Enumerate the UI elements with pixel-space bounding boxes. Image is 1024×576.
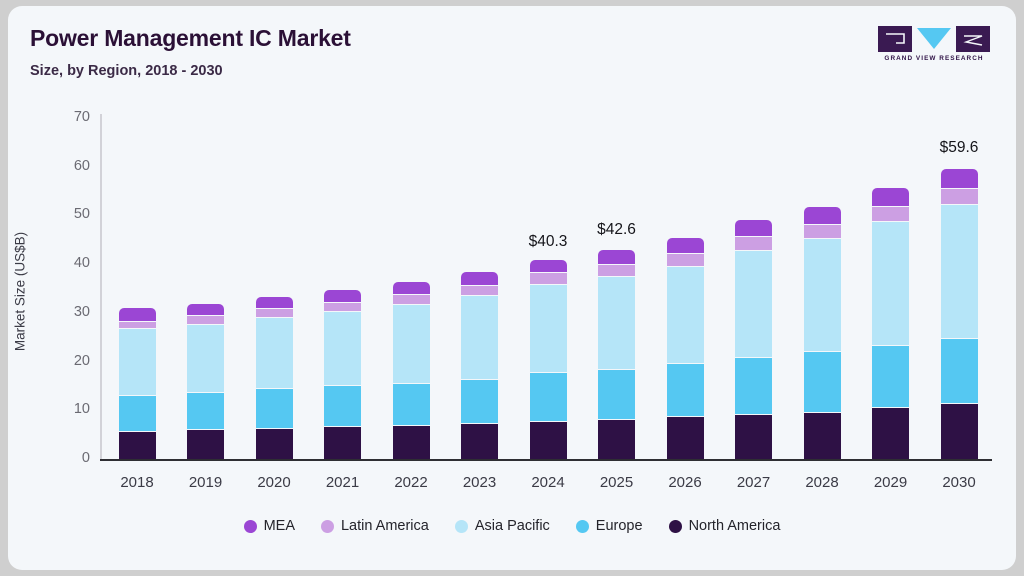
chart-legend: MEALatin AmericaAsia PacificEuropeNorth … xyxy=(8,518,1016,534)
bar-segment[interactable] xyxy=(530,372,567,421)
bar-segment[interactable] xyxy=(735,250,772,357)
chart-bar[interactable] xyxy=(324,118,361,459)
bar-segment[interactable] xyxy=(941,169,978,188)
chart-bar[interactable] xyxy=(598,118,635,459)
legend-item-north-america[interactable]: North America xyxy=(669,518,781,534)
chart-bar[interactable] xyxy=(530,118,567,459)
bar-segment[interactable] xyxy=(187,324,224,392)
y-axis-title: Market Size (US$B) xyxy=(13,112,28,472)
x-axis-line xyxy=(100,459,992,461)
legend-color-swatch xyxy=(455,520,468,533)
legend-color-swatch xyxy=(244,520,257,533)
bar-segment[interactable] xyxy=(187,392,224,430)
bar-segment[interactable] xyxy=(119,328,156,394)
bar-segment[interactable] xyxy=(256,428,293,459)
bar-segment[interactable] xyxy=(324,385,361,426)
bar-segment[interactable] xyxy=(941,188,978,204)
bar-segment[interactable] xyxy=(119,308,156,320)
chart-bar[interactable] xyxy=(872,118,909,459)
chart-card: Power Management IC Market Size, by Regi… xyxy=(8,6,1016,570)
bar-segment[interactable] xyxy=(598,419,635,459)
bar-segment[interactable] xyxy=(530,260,567,273)
bar-segment[interactable] xyxy=(804,207,841,224)
y-axis-tick: 30 xyxy=(46,304,90,320)
bar-segment[interactable] xyxy=(804,412,841,459)
bar-segment[interactable] xyxy=(256,308,293,317)
legend-color-swatch xyxy=(576,520,589,533)
bar-segment[interactable] xyxy=(393,383,430,425)
bar-segment[interactable] xyxy=(461,285,498,295)
chart-bar[interactable] xyxy=(804,118,841,459)
legend-label: North America xyxy=(689,518,781,534)
bar-segment[interactable] xyxy=(187,429,224,459)
y-axis-tick: 70 xyxy=(46,109,90,125)
bar-segment[interactable] xyxy=(119,395,156,431)
bar-segment[interactable] xyxy=(256,317,293,388)
y-axis-tick: 10 xyxy=(46,401,90,417)
bar-segment[interactable] xyxy=(941,204,978,337)
bar-segment[interactable] xyxy=(735,414,772,459)
bar-segment[interactable] xyxy=(461,295,498,378)
bar-segment[interactable] xyxy=(393,282,430,294)
chart-bar[interactable] xyxy=(735,118,772,459)
bar-segment[interactable] xyxy=(598,264,635,277)
bar-segment[interactable] xyxy=(461,379,498,424)
bar-segment[interactable] xyxy=(530,421,567,459)
y-axis-tick: 40 xyxy=(46,255,90,271)
chart-plot-area: Market Size (US$B) 010203040506070201820… xyxy=(8,6,1016,570)
bar-segment[interactable] xyxy=(667,266,704,363)
bar-segment[interactable] xyxy=(804,238,841,351)
bar-segment[interactable] xyxy=(461,423,498,459)
bar-segment[interactable] xyxy=(598,369,635,419)
legend-item-europe[interactable]: Europe xyxy=(576,518,643,534)
legend-item-mea[interactable]: MEA xyxy=(244,518,295,534)
chart-bar[interactable] xyxy=(256,118,293,459)
chart-bar[interactable] xyxy=(187,118,224,459)
legend-label: MEA xyxy=(264,518,295,534)
chart-bar[interactable] xyxy=(461,118,498,459)
bar-segment[interactable] xyxy=(872,206,909,221)
bar-segment[interactable] xyxy=(872,221,909,344)
bar-segment[interactable] xyxy=(667,363,704,416)
bar-segment[interactable] xyxy=(119,321,156,329)
bar-segment[interactable] xyxy=(324,290,361,302)
bar-segment[interactable] xyxy=(256,297,293,309)
bar-segment[interactable] xyxy=(187,315,224,323)
bar-segment[interactable] xyxy=(667,253,704,266)
bar-segment[interactable] xyxy=(393,294,430,304)
bar-segment[interactable] xyxy=(530,272,567,284)
bar-segment[interactable] xyxy=(119,431,156,459)
chart-bar[interactable] xyxy=(941,118,978,459)
legend-item-asia-pacific[interactable]: Asia Pacific xyxy=(455,518,550,534)
bar-segment[interactable] xyxy=(941,403,978,459)
bar-segment[interactable] xyxy=(324,311,361,386)
bar-value-label: $59.6 xyxy=(909,139,1009,157)
x-axis-tick: 2030 xyxy=(919,474,999,491)
bar-segment[interactable] xyxy=(256,388,293,428)
chart-bar[interactable] xyxy=(119,118,156,459)
bar-segment[interactable] xyxy=(941,338,978,403)
y-axis-line xyxy=(100,114,102,461)
y-axis-tick: 60 xyxy=(46,158,90,174)
bar-segment[interactable] xyxy=(393,425,430,459)
y-axis-tick: 20 xyxy=(46,353,90,369)
y-axis-tick: 50 xyxy=(46,206,90,222)
bar-segment[interactable] xyxy=(735,236,772,250)
bar-segment[interactable] xyxy=(598,250,635,264)
legend-label: Asia Pacific xyxy=(475,518,550,534)
bar-segment[interactable] xyxy=(804,351,841,411)
bar-segment[interactable] xyxy=(667,238,704,253)
bar-segment[interactable] xyxy=(393,304,430,382)
bar-segment[interactable] xyxy=(804,224,841,239)
bar-segment[interactable] xyxy=(324,426,361,459)
bar-segment[interactable] xyxy=(461,272,498,285)
bar-segment[interactable] xyxy=(187,304,224,316)
legend-item-latin-america[interactable]: Latin America xyxy=(321,518,429,534)
bar-value-label: $42.6 xyxy=(567,221,667,239)
bar-segment[interactable] xyxy=(324,302,361,311)
bar-segment[interactable] xyxy=(735,357,772,414)
bar-segment[interactable] xyxy=(872,407,909,459)
legend-label: Europe xyxy=(596,518,643,534)
legend-label: Latin America xyxy=(341,518,429,534)
bar-segment[interactable] xyxy=(872,188,909,206)
bar-segment[interactable] xyxy=(735,220,772,236)
bar-segment[interactable] xyxy=(598,276,635,369)
chart-bar[interactable] xyxy=(667,118,704,459)
bar-segment[interactable] xyxy=(667,416,704,459)
legend-color-swatch xyxy=(321,520,334,533)
y-axis-tick: 0 xyxy=(46,450,90,466)
bar-segment[interactable] xyxy=(530,284,567,372)
chart-bar[interactable] xyxy=(393,118,430,459)
bar-segment[interactable] xyxy=(872,345,909,408)
legend-color-swatch xyxy=(669,520,682,533)
